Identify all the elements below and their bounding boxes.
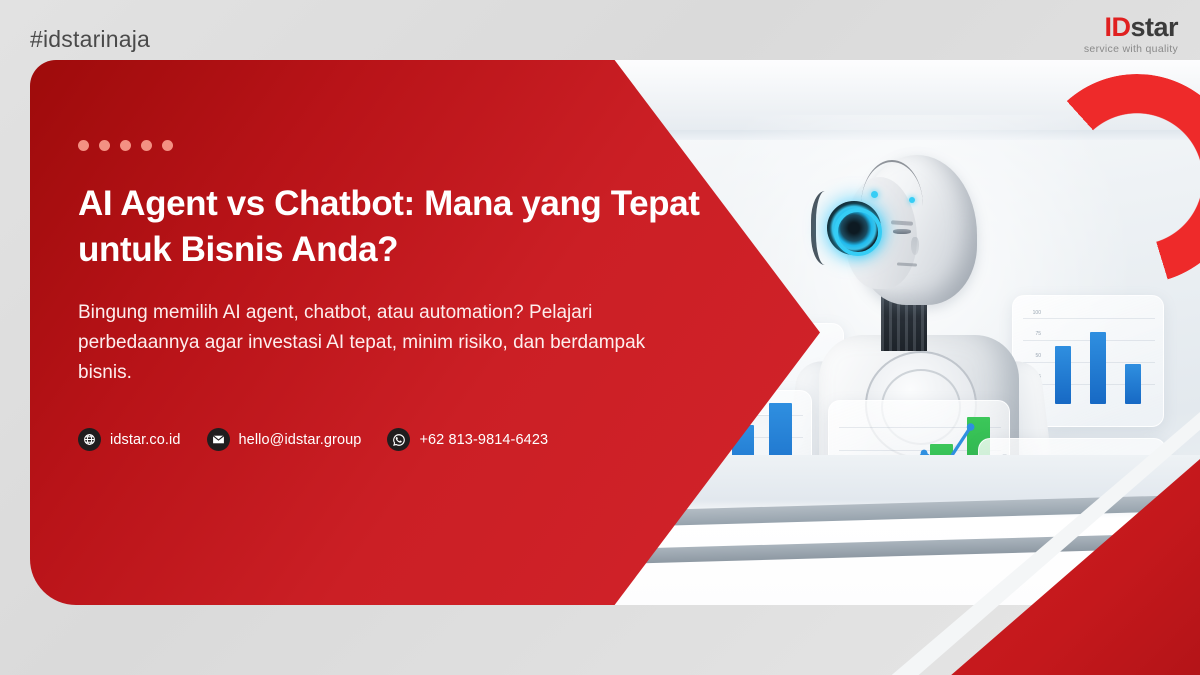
page-title: AI Agent vs Chatbot: Mana yang Tepat unt… (78, 181, 718, 272)
contact-phone-label: +62 813-9814-6423 (419, 432, 548, 448)
logo-wordmark: IDstar (1084, 14, 1178, 41)
bar (1090, 332, 1106, 404)
hashtag-text: #idstarinaja (30, 26, 150, 53)
dot (120, 140, 131, 151)
logo-tagline: service with quality (1084, 44, 1178, 55)
y-tick: 75 (1035, 331, 1041, 337)
dot (99, 140, 110, 151)
bar (1125, 364, 1141, 404)
contact-website[interactable]: idstar.co.id (78, 428, 181, 451)
robot-eye (893, 229, 911, 234)
contact-phone[interactable]: +62 813-9814-6423 (387, 428, 548, 451)
robot-nose (911, 237, 919, 255)
brand-logo: IDstar service with quality (1084, 14, 1178, 55)
dot (162, 140, 173, 151)
robot-indicator-dot (909, 197, 915, 203)
contact-email-label: hello@idstar.group (239, 432, 362, 448)
bar (1055, 346, 1071, 404)
hero-subtitle: Bingung memilih AI agent, chatbot, atau … (78, 298, 668, 388)
decorative-dots (78, 140, 728, 151)
hero-copy: AI Agent vs Chatbot: Mana yang Tepat unt… (78, 140, 728, 388)
contact-email[interactable]: hello@idstar.group (207, 428, 362, 451)
promo-banner: 100 75 50 25 ▭ ▭▭ ▭▭ ▭▭▭▭ (0, 0, 1200, 675)
globe-icon (78, 428, 101, 451)
logo-id-part: ID (1104, 12, 1130, 42)
y-tick: 50 (1035, 353, 1041, 359)
dot (78, 140, 89, 151)
dot (141, 140, 152, 151)
bar-group (1045, 304, 1151, 404)
robot-ear-glow-icon (827, 201, 881, 255)
contact-bar: idstar.co.id hello@idstar.group +62 813-… (78, 428, 548, 451)
whatsapp-icon (387, 428, 410, 451)
logo-star-part: star (1130, 12, 1178, 42)
robot-indicator-dot (871, 191, 878, 198)
envelope-icon (207, 428, 230, 451)
contact-website-label: idstar.co.id (110, 432, 181, 448)
